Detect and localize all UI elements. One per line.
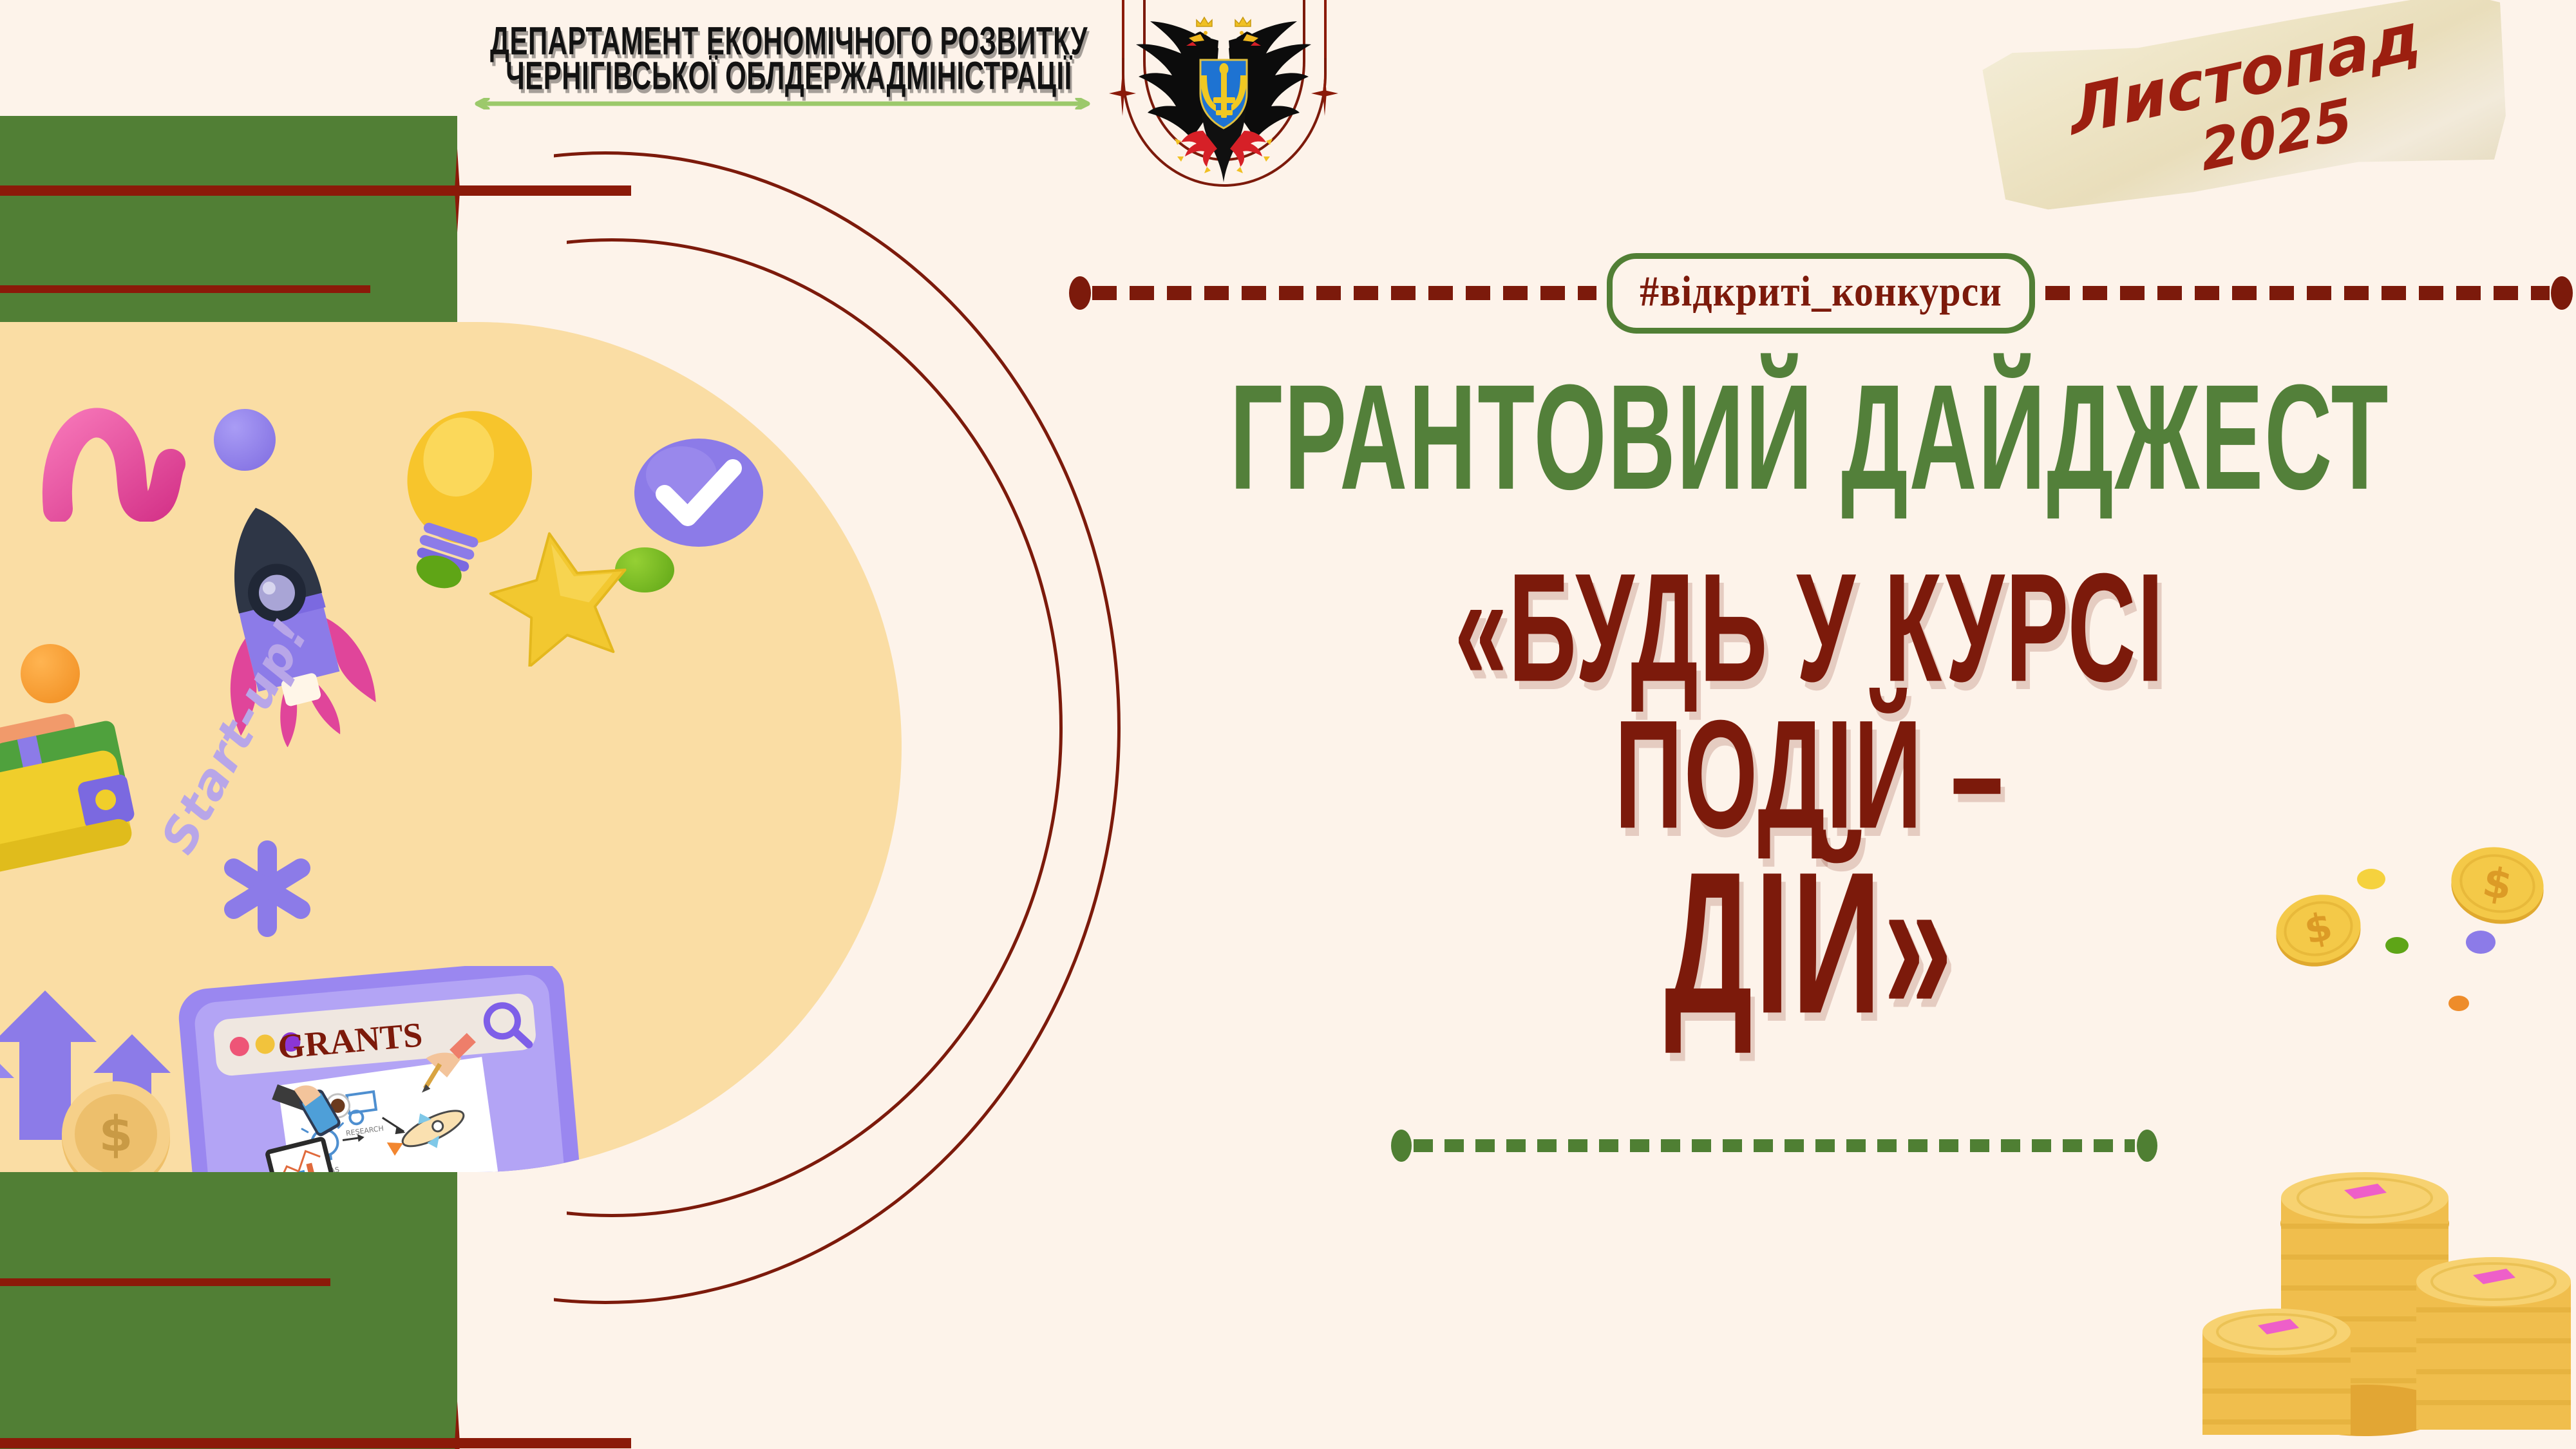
dot-yellow: [2357, 869, 2385, 889]
dot-orange: [21, 644, 80, 703]
green-sidebar-bottom: [0, 1172, 457, 1449]
dot-purple: [2466, 931, 2495, 954]
dashed-line-right: [2045, 286, 2550, 300]
accent-rule-bottom: [0, 1438, 631, 1448]
department-title: ДЕПАРТАМЕНТ ЕКОНОМІЧНОГО РОЗВИТКУ ЧЕРНІГ…: [451, 16, 1127, 86]
dashed-line-left: [1092, 286, 1596, 300]
page-title-text: ГРАНТОВИЙ ДАЙДЖЕСТ: [1197, 362, 2421, 512]
page-title: ГРАНТОВИЙ ДАЙДЖЕСТ: [1179, 362, 2441, 459]
department-title-line2: ЧЕРНІГІВСЬКОЇ ОБЛДЕРЖАДМІНІСТРАЦІЇ: [451, 51, 1127, 101]
wallet-icon: [0, 699, 155, 879]
emblem-frame-right-line: [1324, 0, 1327, 58]
coin-symbol: $: [99, 1105, 133, 1162]
dash-end-dot-right: [2551, 276, 2573, 310]
hashtag-label: #відкриті_конкурси: [1640, 266, 2002, 316]
month-ribbon: Листопад 2025: [1980, 0, 2516, 214]
hashtag-row: #відкриті_конкурси: [1069, 251, 2573, 335]
dot-purple: [214, 409, 276, 471]
asterisk-icon: [216, 837, 319, 940]
accent-rule-bottom-2: [0, 1278, 330, 1286]
poster-canvas: $ Start-up!: [0, 0, 2576, 1449]
coin-stack-right: [2416, 1257, 2571, 1430]
divider-dot-left: [1391, 1130, 1412, 1162]
hashtag-badge[interactable]: #відкриті_конкурси: [1607, 253, 2035, 334]
dot-green: [2385, 937, 2409, 954]
chernihiv-coat-of-arms-icon: [1133, 3, 1314, 196]
double-arrow-icon: [473, 98, 1092, 109]
coin-icon: $: [58, 1079, 174, 1172]
divider-dot-right: [2137, 1130, 2157, 1162]
divider-dashes: [1414, 1139, 2135, 1152]
bottom-divider: [1391, 1131, 2157, 1160]
green-sidebar-top: [0, 116, 457, 328]
coin-stack-left: [2202, 1309, 2351, 1435]
dot-orange: [2448, 996, 2469, 1011]
floating-coin-left: $: [2270, 887, 2367, 974]
floating-coin-right: $: [2445, 840, 2549, 931]
accent-rule-top-2: [0, 285, 370, 293]
coin-stacks-illustration: $ $: [2190, 837, 2576, 1449]
dash-end-dot-left: [1069, 276, 1091, 310]
accent-rule-top: [0, 185, 631, 196]
